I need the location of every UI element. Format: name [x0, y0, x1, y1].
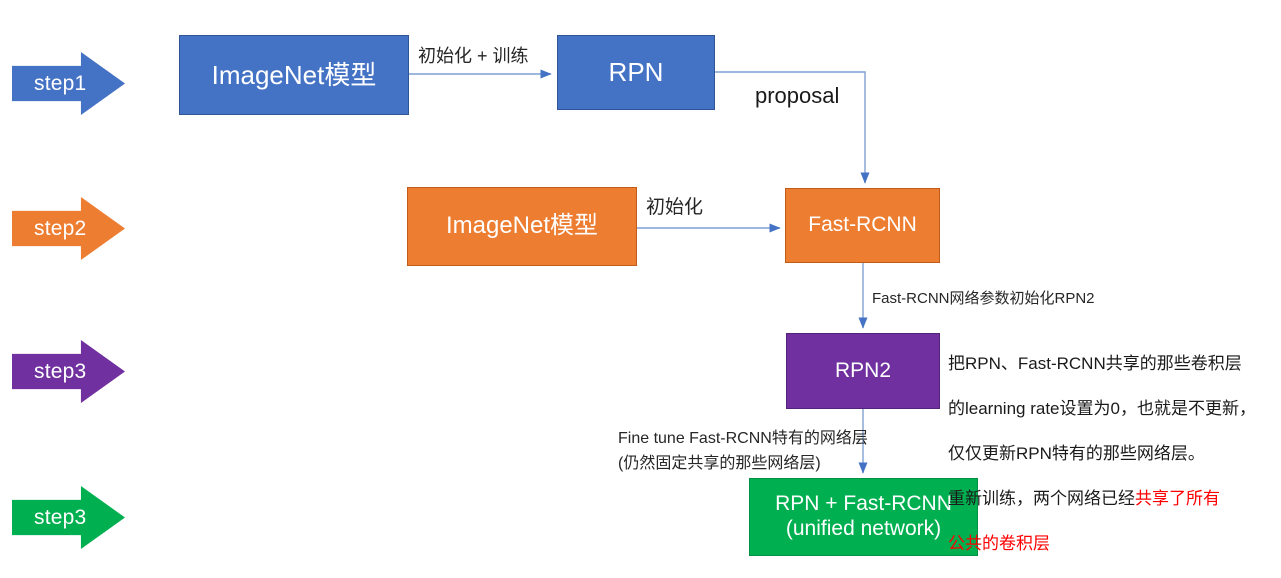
node-label-line1: RPN + Fast-RCNN: [775, 492, 952, 517]
note-line-1: 把RPN、Fast-RCNN共享的那些卷积层: [948, 353, 1278, 376]
note-line-3: 仅仅更新RPN特有的那些网络层。: [948, 443, 1278, 466]
diagram-canvas: step1 step2 step3 step3 ImageNet模型 RPN I…: [0, 0, 1281, 578]
annotation-note: 把RPN、Fast-RCNN共享的那些卷积层 的learning rate设置为…: [948, 330, 1278, 578]
note-line-5-red: 公共的卷积层: [948, 533, 1278, 556]
node-unified-network[interactable]: RPN + Fast-RCNN (unified network): [749, 478, 978, 556]
step-arrow-label: step3: [12, 506, 86, 530]
note-line-4: 重新训练，两个网络已经共享了所有: [948, 488, 1278, 511]
node-label: ImageNet模型: [212, 60, 377, 91]
node-label: Fast-RCNN: [808, 213, 917, 238]
node-imagenet-blue[interactable]: ImageNet模型: [179, 35, 409, 115]
step-arrow-label: step2: [12, 217, 86, 241]
note-line-2: 的learning rate设置为0，也就是不更新，: [948, 398, 1278, 421]
edge-label-init-train: 初始化 + 训练: [418, 42, 529, 68]
step-arrow-label: step3: [12, 360, 86, 384]
node-label-line2: (unified network): [786, 517, 941, 542]
node-rpn[interactable]: RPN: [557, 35, 715, 110]
node-fast-rcnn[interactable]: Fast-RCNN: [785, 188, 940, 263]
note-line-4-red: 共享了所有: [1135, 489, 1220, 508]
note-line-4-black: 重新训练，两个网络已经: [948, 489, 1135, 508]
edge-label-fastrcnn-to-rpn2: Fast-RCNN网络参数初始化RPN2: [872, 287, 1095, 308]
edge-label-proposal: proposal: [755, 83, 839, 109]
node-rpn2[interactable]: RPN2: [786, 333, 940, 409]
edge-label-finetune-line2: (仍然固定共享的那些网络层): [618, 449, 821, 473]
node-label: RPN: [609, 57, 664, 88]
step-arrow-label: step1: [12, 72, 86, 96]
edge-label-init: 初始化: [646, 192, 703, 219]
node-label: ImageNet模型: [446, 212, 598, 240]
edge-label-finetune-line1: Fine tune Fast-RCNN特有的网络层: [618, 424, 868, 448]
node-label: RPN2: [835, 359, 891, 384]
node-imagenet-orange[interactable]: ImageNet模型: [407, 187, 637, 266]
